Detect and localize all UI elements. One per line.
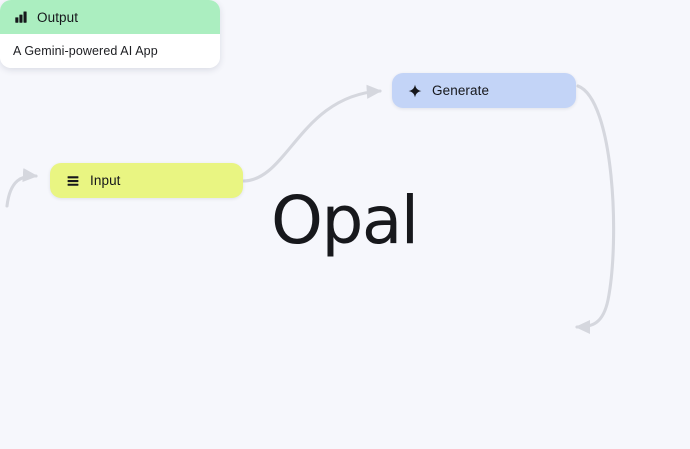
node-generate[interactable]: Generate <box>392 73 576 108</box>
node-output-body-text: A Gemini-powered AI App <box>13 44 158 58</box>
node-input-label: Input <box>90 173 121 188</box>
node-generate-label: Generate <box>432 83 489 98</box>
opal-wordmark: Opal <box>271 185 418 257</box>
workflow-canvas: Opal Input Generate <box>0 0 690 449</box>
node-input-row: Input <box>50 163 243 198</box>
edge-input-to-generate <box>243 91 380 181</box>
node-output-header: Output <box>0 0 220 34</box>
bar-chart-icon <box>13 10 28 25</box>
node-output[interactable]: Output A Gemini-powered AI App <box>0 0 220 68</box>
edge-start-to-input <box>7 176 36 206</box>
node-output-body: A Gemini-powered AI App <box>0 34 220 68</box>
list-lines-icon <box>65 173 80 188</box>
edge-generate-to-output <box>577 86 614 327</box>
node-output-label: Output <box>37 10 78 25</box>
node-input[interactable]: Input <box>50 163 243 198</box>
sparkle-icon <box>407 83 422 98</box>
node-generate-row: Generate <box>392 73 576 108</box>
